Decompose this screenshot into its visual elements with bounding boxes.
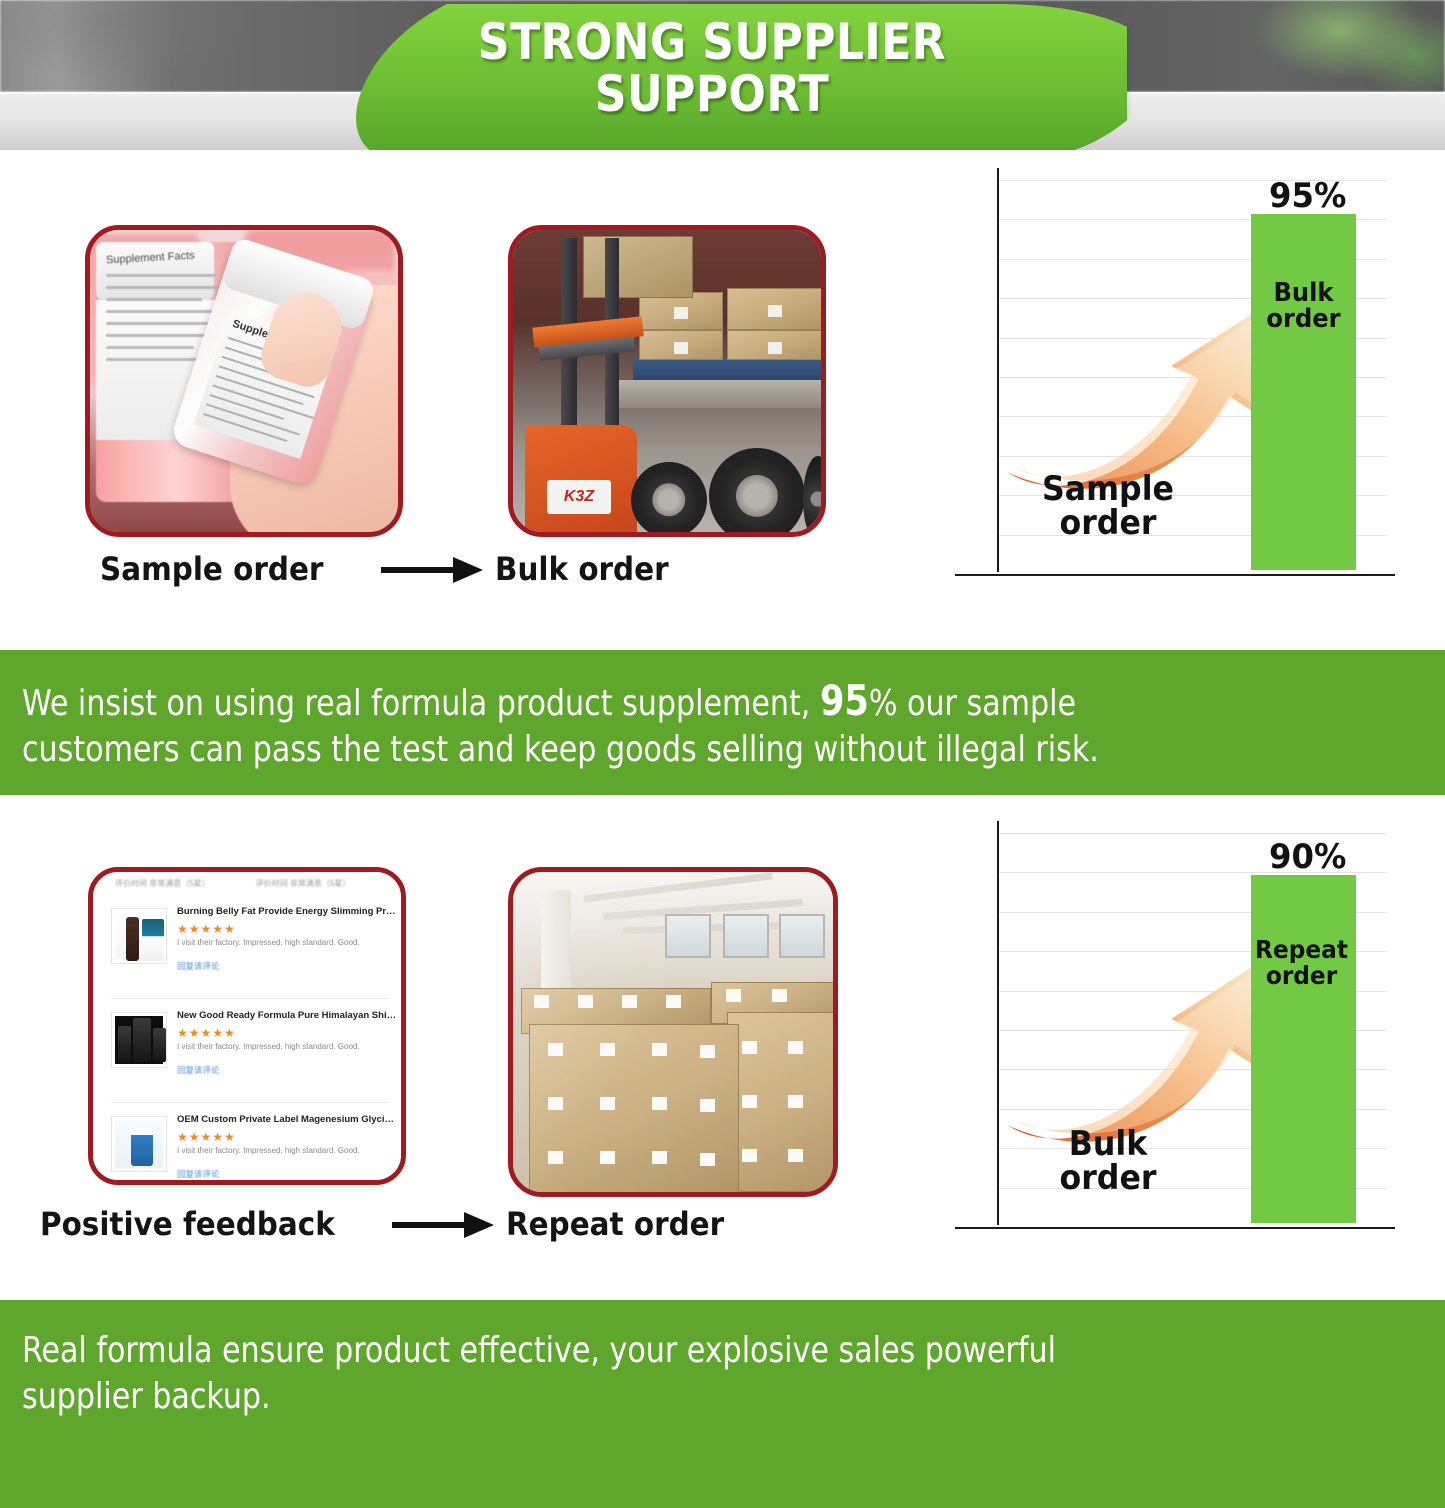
reply-link[interactable]: 回复该评论 <box>177 960 220 972</box>
warehouse-scene <box>513 872 833 1192</box>
review-product-thumbnail <box>111 1012 167 1068</box>
section-sample-to-bulk: Supplement Facts Supplement Facts <box>0 150 1445 650</box>
review-list-header: 评价时间 非常满意（5星） 评价时间 非常满意（5星） <box>93 872 401 894</box>
truck-bed <box>613 380 826 408</box>
page-title: STRONG SUPPLIER SUPPORT <box>347 16 1077 120</box>
carton <box>727 288 823 330</box>
chart-origin-label: Bulkorder <box>1001 1127 1215 1195</box>
photo-repeat-warehouse <box>508 867 838 1197</box>
photo-positive-feedback: 评价时间 非常满意（5星） 评价时间 非常满意（5星） Burning Bell… <box>88 867 406 1185</box>
raised-crate <box>583 236 693 298</box>
photo-bulk-forklift: K3Z <box>508 225 826 537</box>
review-text: I visit their factory. Impressed, high s… <box>177 938 392 947</box>
section-feedback-to-repeat: 评价时间 非常满意（5星） 评价时间 非常满意（5星） Burning Bell… <box>0 795 1445 1300</box>
bottles-scene: Supplement Facts Supplement Facts <box>90 230 398 532</box>
photo-sample-bottles: Supplement Facts Supplement Facts <box>85 225 403 537</box>
arrow-right-icon <box>386 1210 506 1238</box>
banner2-line-2: supplier backup. <box>22 1374 1325 1420</box>
chart-y-axis <box>997 821 999 1225</box>
list-item[interactable]: OEM Custom Private Label Magenesium Glyc… <box>105 1106 397 1180</box>
star-rating-icon: ★★★★★ <box>177 1130 236 1144</box>
page-title-line-2: SUPPORT <box>347 68 1077 120</box>
review-title: New Good Ready Formula Pure Himalayan Sh… <box>177 1010 397 1021</box>
review-title: OEM Custom Private Label Magenesium Glyc… <box>177 1114 397 1125</box>
reply-link[interactable]: 回复该评论 <box>177 1064 220 1076</box>
review-header-col-2: 评价时间 非常满意（5星） <box>256 878 351 889</box>
chart-bulk-to-repeat: 90% Repeatorder Bulkorder <box>955 815 1395 1255</box>
carton <box>727 330 823 360</box>
forklift-brand-label: K3Z <box>547 480 611 514</box>
truck-wheel-2 <box>803 456 826 537</box>
star-rating-icon: ★★★★★ <box>177 922 236 936</box>
review-text: I visit their factory. Impressed, high s… <box>177 1042 392 1051</box>
banner-line-2: customers can pass the test and keep goo… <box>22 727 1325 773</box>
page-title-line-1: STRONG SUPPLIER <box>347 16 1077 68</box>
caption-repeat-order: Repeat order <box>506 1205 724 1243</box>
review-product-thumbnail <box>111 908 167 964</box>
blue-pallet <box>633 358 826 382</box>
bar-category-label: Repeatorder <box>1253 937 1351 989</box>
forklift-scene: K3Z <box>513 230 821 532</box>
review-title: Burning Belly Fat Provide Energy Slimmin… <box>177 906 397 917</box>
review-text: I visit their factory. Impressed, high s… <box>177 1146 392 1155</box>
review-header-col-1: 评价时间 非常满意（5星） <box>115 878 210 889</box>
caption-sample-order: Sample order <box>100 550 323 588</box>
banner-line-1: We insist on using real formula product … <box>22 678 1325 727</box>
bar-category-label: Bulkorder <box>1255 280 1353 332</box>
bar-repeat-order <box>1251 875 1356 1223</box>
chart-x-axis <box>955 574 1395 576</box>
review-product-thumbnail <box>111 1116 167 1172</box>
list-item[interactable]: Burning Belly Fat Provide Energy Slimmin… <box>105 898 397 995</box>
banner2-line-1: Real formula ensure product effective, y… <box>22 1328 1325 1374</box>
list-item[interactable]: New Good Ready Formula Pure Himalayan Sh… <box>105 1002 397 1099</box>
carton <box>639 330 723 360</box>
star-rating-icon: ★★★★★ <box>177 1026 236 1040</box>
chart-sample-to-bulk: 95% Bulkorder Sampleorder <box>955 162 1395 602</box>
review-list-screenshot: 评价时间 非常满意（5星） 评价时间 非常满意（5星） Burning Bell… <box>93 872 401 1180</box>
chart-origin-label: Sampleorder <box>992 472 1225 540</box>
banner-real-formula: Real formula ensure product effective, y… <box>0 1300 1445 1508</box>
bar-bulk-order <box>1251 214 1356 570</box>
caption-row-top: Sample order Bulk order <box>0 550 900 588</box>
page-header: STRONG SUPPLIER SUPPORT <box>0 0 1445 150</box>
reply-link[interactable]: 回复该评论 <box>177 1168 220 1180</box>
arrow-right-icon <box>375 555 495 583</box>
forklift-wheel <box>631 462 707 537</box>
caption-positive-feedback: Positive feedback <box>40 1205 335 1243</box>
caption-bulk-order: Bulk order <box>495 550 669 588</box>
bar-percent-label: 95% <box>1269 176 1346 216</box>
chart-x-axis <box>955 1227 1395 1229</box>
bar-percent-label: 90% <box>1269 837 1346 877</box>
truck-wheel-1 <box>709 448 805 537</box>
caption-row-bottom: Positive feedback Repeat order <box>0 1205 900 1243</box>
bottle-cap <box>96 242 214 300</box>
banner-sample-pass-rate: We insist on using real formula product … <box>0 650 1445 795</box>
